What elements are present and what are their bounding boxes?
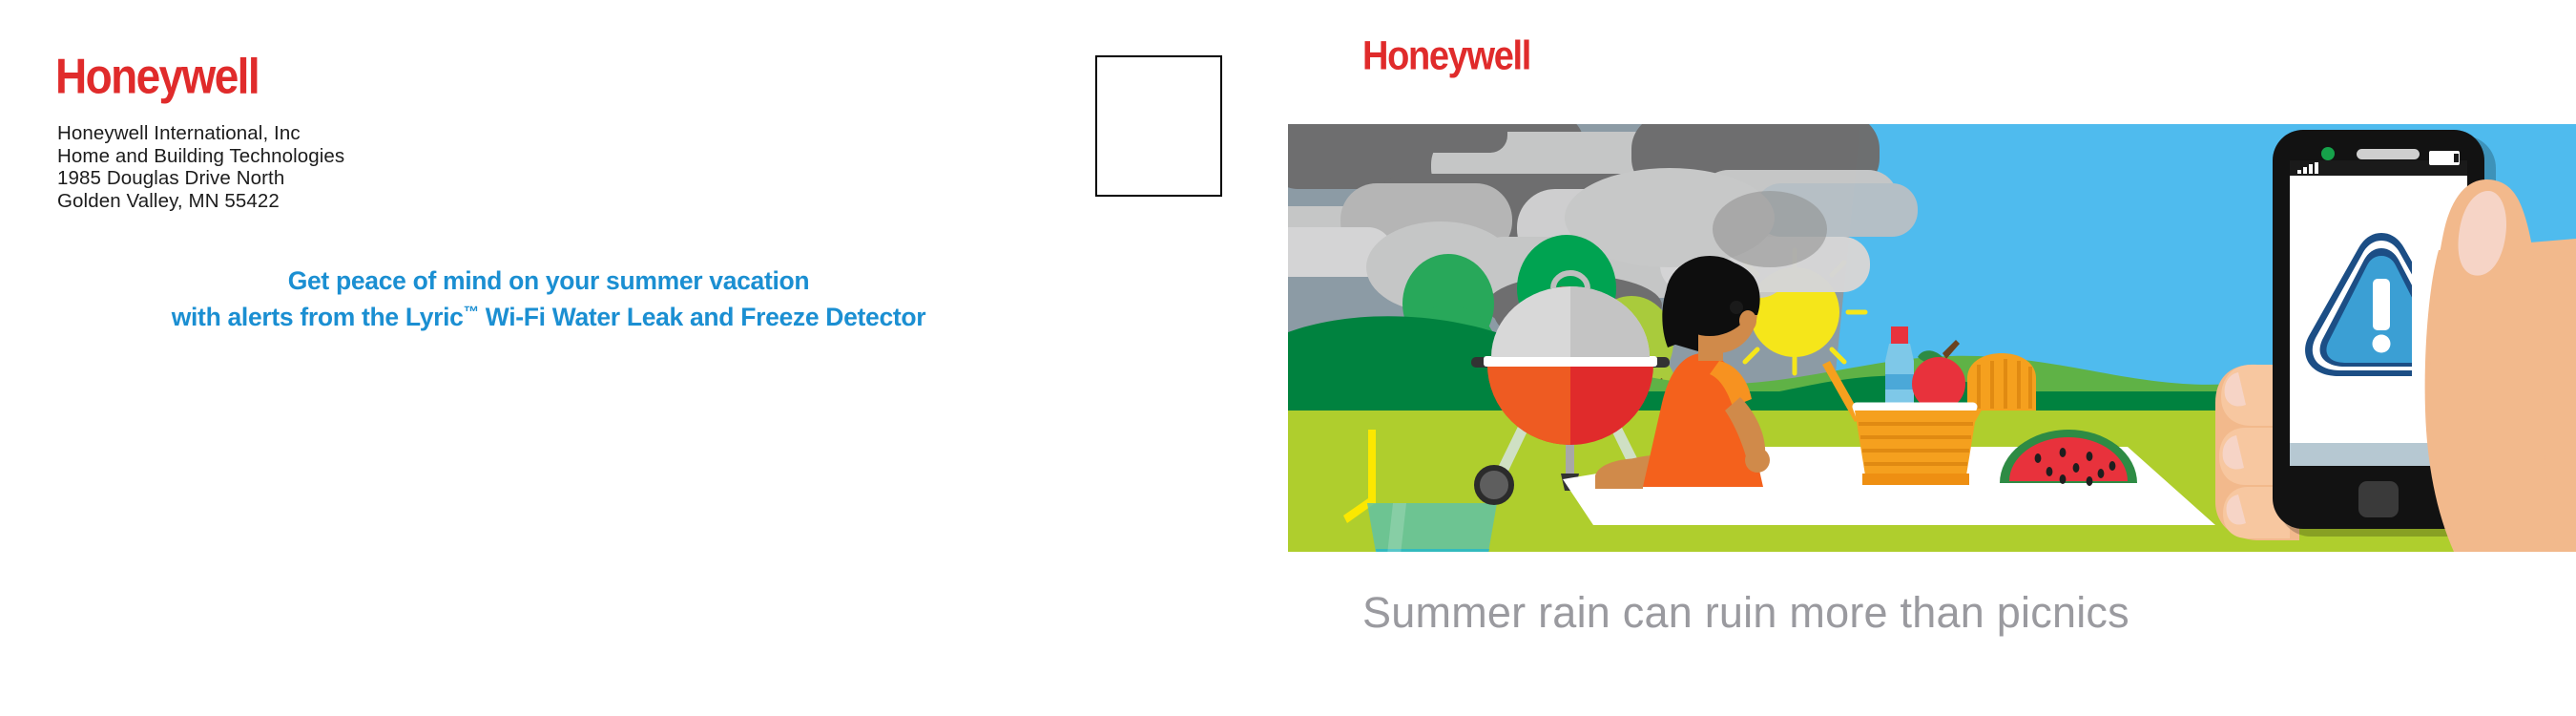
postage-stamp-box (1095, 55, 1222, 197)
mail-art-panel: Honeywell (1288, 0, 2576, 716)
trademark-symbol: ™ (464, 304, 479, 321)
honeywell-logo-right: Honeywell (1362, 36, 1530, 77)
grill-rim (1484, 356, 1657, 367)
basket-body (1855, 411, 1977, 481)
postcard: Honeywell Honeywell International, Inc H… (0, 0, 2576, 716)
address-panel: Honeywell Honeywell International, Inc H… (0, 0, 1288, 716)
battery-icon (2429, 151, 2460, 165)
alert-exclamation-bar (2373, 279, 2390, 330)
woman-eye (1730, 301, 1743, 314)
grill-wheel-left (1477, 468, 1511, 502)
headline-line-2-part-a: with alerts from the Lyric (172, 303, 464, 331)
woman-ear (1739, 310, 1756, 331)
phone-speaker-slot (2357, 149, 2420, 159)
summer-picnic-storm-illustration (1288, 124, 2576, 552)
headline-line-1: Get peace of mind on your summer vacatio… (0, 265, 1097, 297)
alert-exclamation-dot (2373, 335, 2391, 353)
glass-body (1367, 503, 1497, 552)
headline-block: Get peace of mind on your summer vacatio… (0, 265, 1097, 333)
headline-line-2-part-b: Wi-Fi Water Leak and Freeze Detector (479, 303, 926, 331)
phone-home-button (2358, 481, 2399, 517)
bottle-label (1885, 374, 1914, 390)
phone-camera-led (2321, 147, 2335, 160)
tagline: Summer rain can ruin more than picnics (1362, 588, 2129, 638)
basket-base (1862, 474, 1969, 485)
return-address-line: 1985 Douglas Drive North (57, 167, 344, 190)
bottle-cap-rect (1891, 326, 1908, 344)
return-address-line: Honeywell International, Inc (57, 122, 344, 145)
return-address-block: Honeywell International, Inc Home and Bu… (57, 122, 344, 212)
headline-line-2: with alerts from the Lyric™ Wi-Fi Water … (0, 297, 1097, 333)
return-address-line: Home and Building Technologies (57, 145, 344, 168)
honeywell-logo-left: Honeywell (55, 52, 259, 101)
woman-hand (1745, 448, 1770, 473)
return-address-line: Golden Valley, MN 55422 (57, 190, 344, 213)
